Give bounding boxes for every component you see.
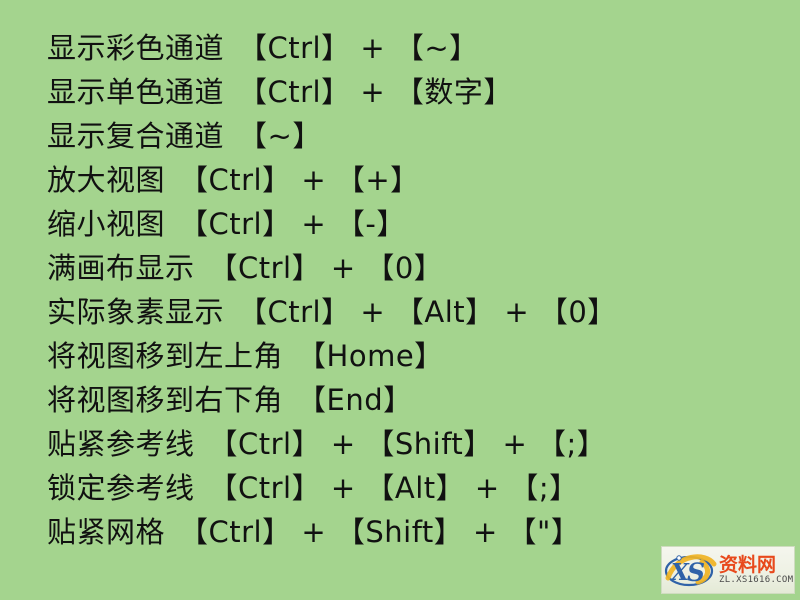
watermark-url: ZL.XS1616.COM — [719, 575, 794, 586]
shortcut-row: 显示彩色通道【Ctrl】 + 【~】 — [47, 26, 800, 70]
watermark: X S 资料网 ZL.XS1616.COM — [661, 546, 795, 594]
xs-logo-icon: X S — [662, 548, 718, 592]
shortcut-row: 锁定参考线【Ctrl】 + 【Alt】 + 【;】 — [47, 466, 800, 510]
shortcut-row: 满画布显示【Ctrl】 + 【0】 — [47, 246, 800, 290]
shortcut-action: 缩小视图 — [47, 207, 165, 241]
shortcut-action: 贴紧参考线 — [47, 427, 195, 461]
shortcut-keys: 【Ctrl】 + 【0】 — [209, 251, 444, 285]
watermark-brand: 资料网 — [719, 555, 794, 575]
shortcut-keys: 【Ctrl】 + 【-】 — [179, 207, 406, 241]
shortcut-action: 将视图移到左上角 — [47, 339, 283, 373]
shortcut-action: 锁定参考线 — [47, 471, 195, 505]
shortcut-action: 将视图移到右下角 — [47, 383, 283, 417]
shortcut-keys: 【Ctrl】 + 【Alt】 + 【0】 — [238, 295, 617, 329]
shortcut-row: 显示单色通道【Ctrl】 + 【数字】 — [47, 70, 800, 114]
shortcut-keys: 【End】 — [297, 383, 413, 417]
shortcut-action: 显示单色通道 — [47, 75, 224, 109]
shortcut-action: 放大视图 — [47, 163, 165, 197]
shortcut-action: 显示彩色通道 — [47, 31, 224, 65]
shortcut-keys: 【Ctrl】 + 【数字】 — [238, 75, 513, 109]
shortcut-keys: 【Ctrl】 + 【~】 — [238, 31, 479, 65]
shortcut-row: 缩小视图【Ctrl】 + 【-】 — [47, 202, 800, 246]
shortcut-row: 将视图移到左上角【Home】 — [47, 334, 800, 378]
watermark-text-group: 资料网 ZL.XS1616.COM — [718, 555, 794, 586]
shortcut-row: 将视图移到右下角【End】 — [47, 378, 800, 422]
shortcut-keys: 【Ctrl】 + 【Shift】 + 【;】 — [209, 427, 607, 461]
shortcut-row: 实际象素显示【Ctrl】 + 【Alt】 + 【0】 — [47, 290, 800, 334]
slide-canvas: 显示彩色通道【Ctrl】 + 【~】 显示单色通道【Ctrl】 + 【数字】 显… — [0, 0, 800, 600]
shortcut-list: 显示彩色通道【Ctrl】 + 【~】 显示单色通道【Ctrl】 + 【数字】 显… — [47, 26, 800, 554]
shortcut-row: 显示复合通道【~】 — [47, 114, 800, 158]
shortcut-keys: 【Ctrl】 + 【+】 — [179, 163, 420, 197]
shortcut-action: 实际象素显示 — [47, 295, 224, 329]
shortcut-keys: 【Home】 — [297, 339, 444, 373]
shortcut-action: 显示复合通道 — [47, 119, 224, 153]
shortcut-keys: 【~】 — [238, 119, 322, 153]
shortcut-row: 贴紧参考线【Ctrl】 + 【Shift】 + 【;】 — [47, 422, 800, 466]
shortcut-keys: 【Ctrl】 + 【Shift】 + 【"】 — [179, 515, 580, 549]
shortcut-action: 贴紧网格 — [47, 515, 165, 549]
shortcut-action: 满画布显示 — [47, 251, 195, 285]
shortcut-row: 放大视图【Ctrl】 + 【+】 — [47, 158, 800, 202]
shortcut-keys: 【Ctrl】 + 【Alt】 + 【;】 — [209, 471, 579, 505]
svg-text:S: S — [687, 558, 705, 587]
